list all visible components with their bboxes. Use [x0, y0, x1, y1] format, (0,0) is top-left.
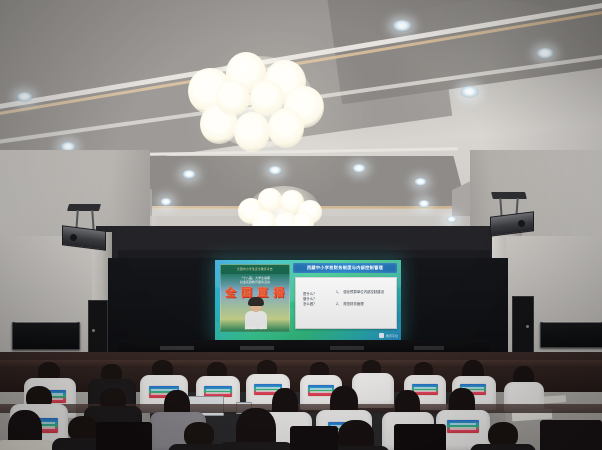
video-panel-topbar: 全国中小学生安全教育平台 [221, 265, 289, 274]
stage-light-strip [330, 346, 364, 350]
downlight [268, 166, 282, 175]
downlight [16, 92, 33, 102]
auditorium-seat[interactable] [96, 422, 152, 450]
chandelier-bulb [234, 112, 270, 152]
audience-person [168, 422, 230, 450]
slide-bullet-list: 1、 强化预算单位内部控制建设 2、 规范财务管理 [336, 290, 392, 314]
slide-bullet-text: 规范财务管理 [343, 302, 363, 307]
downlight [182, 170, 196, 179]
led-presentation-screen[interactable]: 全国中小学生安全教育平台 「十八届」大学生暑期 社会实践教育服务活动 全 国 直… [215, 260, 401, 340]
chandelier-bulb [258, 188, 282, 212]
projector-lens [70, 234, 77, 241]
video-panel-subtitle-line1: 「十八届」大学生暑期 [225, 276, 285, 280]
downlight [160, 198, 172, 206]
papers [540, 395, 566, 404]
slide-question-2: 做什么？ [303, 297, 329, 302]
audience-person [470, 422, 536, 450]
downlight [460, 86, 479, 98]
audience-area [0, 360, 602, 450]
slide-corner-logo-text: 教育平台 [386, 334, 398, 338]
door-right[interactable] [512, 296, 534, 360]
auditorium-seat[interactable] [540, 420, 602, 450]
video-panel-subtitle-line2: 社会实践教育服务活动 [225, 280, 285, 284]
screen-decoration [215, 260, 401, 302]
chandelier-bulb [216, 80, 250, 116]
slide-content-card: 是什么？ 做什么？ 怎么做？ 1、 强化预算单位内部控制建设 2、 规范财务管理 [295, 277, 397, 329]
downlight [418, 200, 430, 208]
lecture-hall-photo: 全国中小学生安全教育平台 「十八届」大学生暑期 社会实践教育服务活动 全 国 直… [0, 0, 602, 450]
slide-title-text: 西藏中小学校财务制度与内部控制管理 [293, 263, 397, 273]
slide-corner-logo: 教育平台 [379, 333, 398, 338]
downlight [414, 178, 427, 186]
video-panel-footer: 主讲嘉宾：讲师 [225, 326, 285, 330]
video-panel-topbar-text: 全国中小学生安全教育平台 [221, 265, 289, 274]
video-feed-panel: 全国中小学生安全教育平台 「十八届」大学生暑期 社会实践教育服务活动 全 国 直… [220, 264, 290, 332]
monitor-right[interactable] [540, 322, 602, 348]
audience-person [0, 410, 56, 450]
logo-mark-icon [379, 333, 384, 338]
presenter-figure [245, 299, 267, 329]
stage-light-strip [240, 346, 274, 350]
downlight [352, 164, 366, 173]
auditorium-seat[interactable] [394, 424, 446, 450]
slide-title-banner: 西藏中小学校财务制度与内部控制管理 [293, 263, 397, 273]
slide-bullet-text: 强化预算单位内部控制建设 [343, 290, 384, 295]
video-panel-subtitle: 「十八届」大学生暑期 社会实践教育服务活动 [225, 276, 285, 284]
monitor-left[interactable] [12, 322, 80, 350]
downlight [536, 48, 554, 59]
slide-bullet-number: 2、 [336, 302, 341, 307]
slide-bullet-item: 2、 规范财务管理 [336, 302, 392, 307]
projector-lens [518, 220, 525, 227]
stage-light-strip [414, 346, 444, 350]
downlight [446, 216, 457, 223]
auditorium-seat[interactable] [290, 426, 338, 450]
chandelier-bulb [250, 80, 284, 116]
slide-question-list: 是什么？ 做什么？ 怎么做？ [303, 292, 329, 307]
slide-bullet-number: 1、 [336, 290, 341, 295]
slide-bullet-item: 1、 强化预算单位内部控制建设 [336, 290, 392, 295]
downlight [392, 20, 412, 32]
slide-question-1: 是什么？ [303, 292, 329, 297]
slide-question-3: 怎么做？ [303, 302, 329, 307]
screen-decoration [215, 308, 401, 340]
stage-light-strip [160, 346, 194, 350]
main-chandelier [186, 46, 326, 156]
video-panel-headline: 全 国 直 播 [223, 287, 287, 299]
